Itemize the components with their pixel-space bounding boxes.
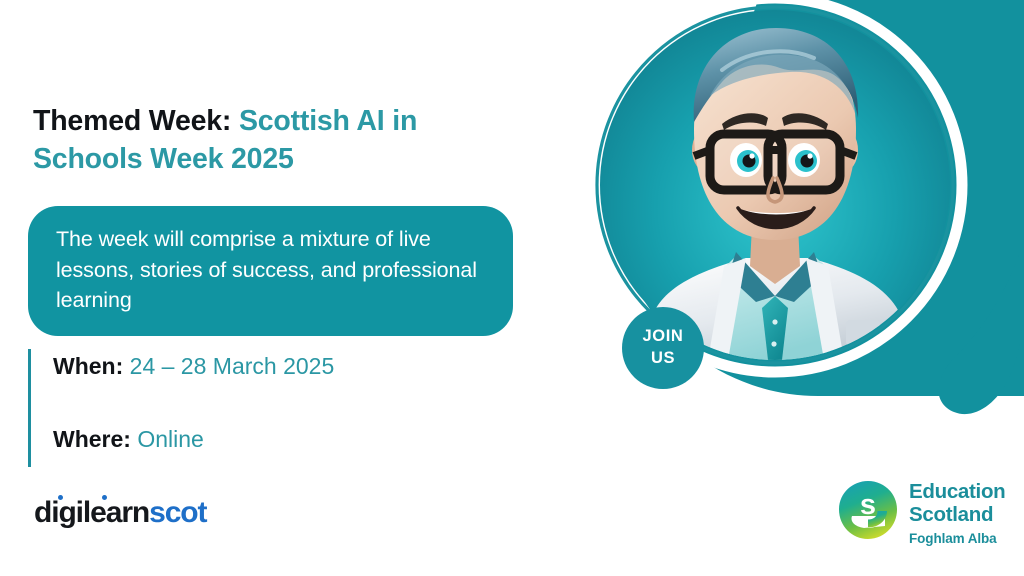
detail-row-when: When: 24 – 28 March 2025 — [53, 353, 334, 379]
page-title: Themed Week: Scottish AI in Schools Week… — [33, 103, 503, 179]
digilearn-dot-icon — [102, 495, 107, 500]
where-label: Where: — [53, 426, 131, 452]
promo-card: Themed Week: Scottish AI in Schools Week… — [0, 0, 1024, 576]
education-scotland-e-mark-icon: s — [838, 480, 898, 540]
join-badge-line1: JOIN — [643, 326, 684, 348]
join-us-badge[interactable]: JOIN US — [622, 307, 704, 389]
es-gaelic-line: Foghlam Alba — [909, 531, 1005, 546]
digilearnscot-logo: digilearnscot — [34, 498, 206, 528]
education-scotland-logo: s Education Scotland Foghlam Alba — [838, 480, 1005, 546]
description-text: The week will comprise a mixture of live… — [56, 227, 477, 312]
detail-row-where: Where: Online — [53, 426, 334, 452]
glasses-icon — [694, 134, 856, 190]
digilearn-wordmark-blue: scot — [149, 496, 206, 529]
es-line-1: Education — [909, 481, 1005, 504]
content-column: Themed Week: Scottish AI in Schools Week… — [0, 0, 560, 576]
education-scotland-wordmark: Education Scotland Foghlam Alba — [909, 480, 1005, 546]
when-label: When: — [53, 353, 123, 379]
when-value: 24 – 28 March 2025 — [130, 353, 335, 379]
digilearn-dot-icon — [58, 495, 63, 500]
digilearn-wordmark-dark: digilearn — [34, 496, 149, 529]
headline-prefix: Themed Week: — [33, 105, 231, 137]
join-badge-line2: US — [651, 348, 675, 370]
event-details: When: 24 – 28 March 2025 Where: Online — [28, 349, 334, 467]
es-mark-letter: s — [860, 489, 876, 521]
where-value: Online — [137, 426, 203, 452]
description-callout: The week will comprise a mixture of live… — [28, 206, 513, 336]
es-line-2: Scotland — [909, 504, 1005, 527]
